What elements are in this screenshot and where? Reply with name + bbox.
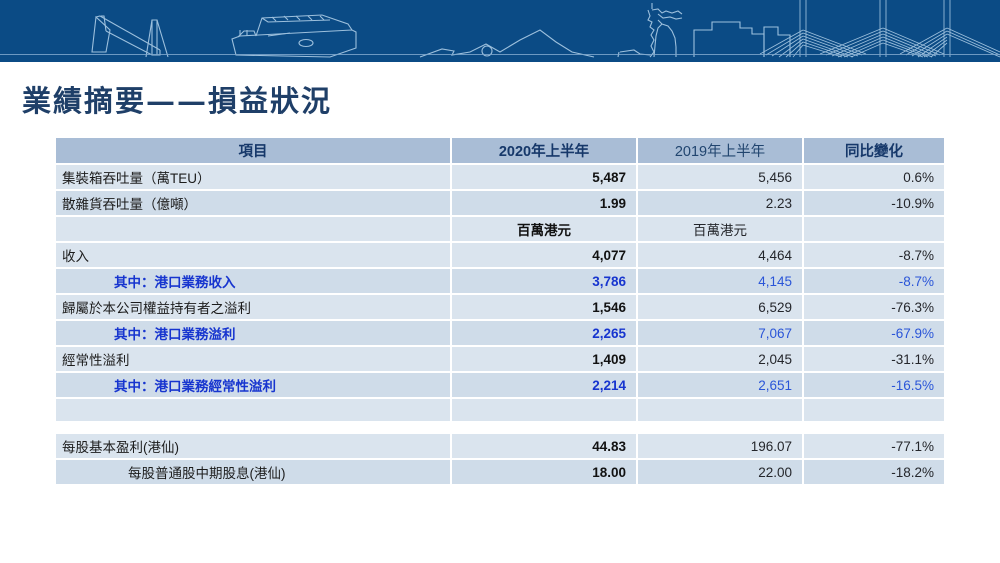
- cell-change: -18.2%: [804, 460, 944, 484]
- cell-2019: 196.07: [638, 434, 802, 458]
- cell-2019: 2,045: [638, 347, 802, 371]
- row-label: 其中：港口業務收入: [56, 269, 450, 293]
- cell-2020: 5,487: [452, 165, 636, 189]
- gap-cell: [452, 423, 636, 432]
- table-row-spacer: [56, 399, 944, 421]
- cell-2020: 2,214: [452, 373, 636, 397]
- row-label: 集裝箱吞吐量（萬TEU）: [56, 165, 450, 189]
- cell-2019: 6,529: [638, 295, 802, 319]
- cell-2020: 1,546: [452, 295, 636, 319]
- city-skyline-icon: [694, 22, 790, 57]
- spacer-cell: [452, 399, 636, 421]
- cell-2020: 1.99: [452, 191, 636, 215]
- cell-2019: 2,651: [638, 373, 802, 397]
- unit-2019: 百萬港元: [638, 217, 802, 241]
- banner-horizon-line: [0, 54, 1000, 55]
- cell-change: -10.9%: [804, 191, 944, 215]
- row-label: 歸屬於本公司權益持有者之溢利: [56, 295, 450, 319]
- spacer-cell: [638, 399, 802, 421]
- table-row: 集裝箱吞吐量（萬TEU） 5,487 5,456 0.6%: [56, 165, 944, 189]
- spacer-cell: [804, 399, 944, 421]
- unit-change: [804, 217, 944, 241]
- row-label: 每股基本盈利(港仙): [56, 434, 450, 458]
- financial-summary-table: 項目 2020年上半年 2019年上半年 同比變化 集裝箱吞吐量（萬TEU） 5…: [54, 136, 946, 486]
- cell-2020: 4,077: [452, 243, 636, 267]
- table-row-gap: [56, 423, 944, 432]
- cell-change: -8.7%: [804, 243, 944, 267]
- cell-change: -67.9%: [804, 321, 944, 345]
- cell-2020: 2,265: [452, 321, 636, 345]
- row-label: 其中：港口業務經常性溢利: [56, 373, 450, 397]
- cell-2019: 2.23: [638, 191, 802, 215]
- crane-icon: [92, 16, 168, 57]
- cell-change: 0.6%: [804, 165, 944, 189]
- harbour-wave-icon: [420, 30, 594, 57]
- cell-2019: 4,145: [638, 269, 802, 293]
- row-label: 經常性溢利: [56, 347, 450, 371]
- column-header-2019: 2019年上半年: [638, 138, 802, 163]
- cell-2020: 44.83: [452, 434, 636, 458]
- table-header-row: 項目 2020年上半年 2019年上半年 同比變化: [56, 138, 944, 163]
- cell-2020: 1,409: [452, 347, 636, 371]
- gap-cell: [56, 423, 450, 432]
- column-header-yoy-change: 同比變化: [804, 138, 944, 163]
- cell-change: -8.7%: [804, 269, 944, 293]
- row-label: 散雜貨吞吐量（億噸）: [56, 191, 450, 215]
- row-label: 每股普通股中期股息(港仙): [56, 460, 450, 484]
- table-row: 其中：港口業務溢利 2,265 7,067 -67.9%: [56, 321, 944, 345]
- cell-2019: 22.00: [638, 460, 802, 484]
- page-title: 業績摘要——損益狀況: [22, 78, 332, 120]
- unit-2020: 百萬港元: [452, 217, 636, 241]
- spacer-cell: [56, 399, 450, 421]
- gap-cell: [638, 423, 802, 432]
- banner-artwork: [0, 0, 1000, 62]
- cell-2019: 5,456: [638, 165, 802, 189]
- cell-change: -76.3%: [804, 295, 944, 319]
- table-row: 經常性溢利 1,409 2,045 -31.1%: [56, 347, 944, 371]
- cell-change: -77.1%: [804, 434, 944, 458]
- header-banner: [0, 0, 1000, 62]
- table-row: 散雜貨吞吐量（億噸） 1.99 2.23 -10.9%: [56, 191, 944, 215]
- statue-of-liberty-icon: [618, 3, 682, 57]
- table-body: 集裝箱吞吐量（萬TEU） 5,487 5,456 0.6% 散雜貨吞吐量（億噸）…: [56, 165, 944, 484]
- table-row-units: 百萬港元 百萬港元: [56, 217, 944, 241]
- cable-stayed-bridge-icon: [760, 0, 1000, 57]
- table-row: 每股普通股中期股息(港仙) 18.00 22.00 -18.2%: [56, 460, 944, 484]
- table-row: 歸屬於本公司權益持有者之溢利 1,546 6,529 -76.3%: [56, 295, 944, 319]
- cell-change: -31.1%: [804, 347, 944, 371]
- cell-change: -16.5%: [804, 373, 944, 397]
- cell-2020: 3,786: [452, 269, 636, 293]
- row-label: 收入: [56, 243, 450, 267]
- table-row: 其中：港口業務經常性溢利 2,214 2,651 -16.5%: [56, 373, 944, 397]
- row-label: [56, 217, 450, 241]
- cell-2019: 7,067: [638, 321, 802, 345]
- table-row: 其中：港口業務收入 3,786 4,145 -8.7%: [56, 269, 944, 293]
- column-header-2020: 2020年上半年: [452, 138, 636, 163]
- column-header-item: 項目: [56, 138, 450, 163]
- table-row: 收入 4,077 4,464 -8.7%: [56, 243, 944, 267]
- cell-2019: 4,464: [638, 243, 802, 267]
- gap-cell: [804, 423, 944, 432]
- cell-2020: 18.00: [452, 460, 636, 484]
- row-label: 其中：港口業務溢利: [56, 321, 450, 345]
- container-ship-icon: [232, 15, 356, 57]
- table-row: 每股基本盈利(港仙) 44.83 196.07 -77.1%: [56, 434, 944, 458]
